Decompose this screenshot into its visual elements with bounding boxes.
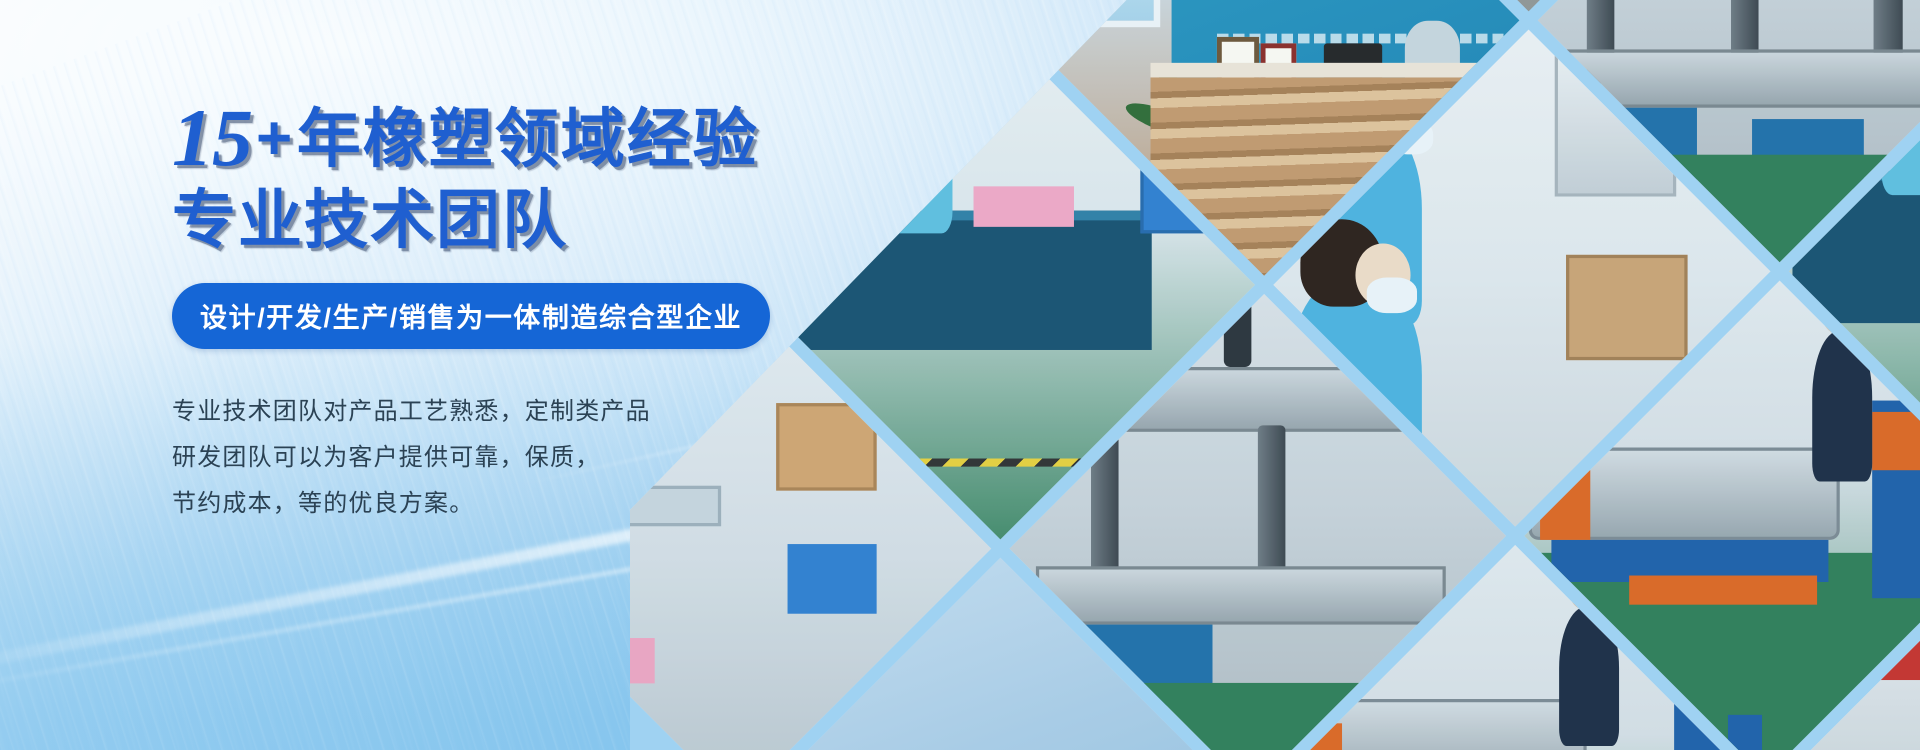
hero-banner: 15+年橡塑领域经验 专业技术团队 设计/开发/生产/销售为一体制造综合型企业 …	[0, 0, 1920, 750]
description-line-1: 专业技术团队对产品工艺熟悉，定制类产品	[172, 389, 892, 435]
headline-plus-sign: +	[256, 104, 293, 173]
headline-line-1-text: 年橡塑领域经验	[297, 103, 759, 175]
headline-number: 15	[172, 92, 252, 183]
headline-line-1: 15+年橡塑领域经验	[172, 96, 892, 180]
headline-line-2: 专业技术团队	[172, 188, 892, 253]
description-paragraph: 专业技术团队对产品工艺熟悉，定制类产品 研发团队可以为客户提供可靠，保质， 节约…	[172, 389, 892, 527]
description-line-2: 研发团队可以为客户提供可靠，保质，	[172, 435, 892, 481]
slogan-badge[interactable]: 设计/开发/生产/销售为一体制造综合型企业	[172, 283, 770, 349]
hero-text-block: 15+年橡塑领域经验 专业技术团队 设计/开发/生产/销售为一体制造综合型企业 …	[172, 96, 892, 527]
description-line-3: 节约成本，等的优良方案。	[172, 481, 892, 527]
